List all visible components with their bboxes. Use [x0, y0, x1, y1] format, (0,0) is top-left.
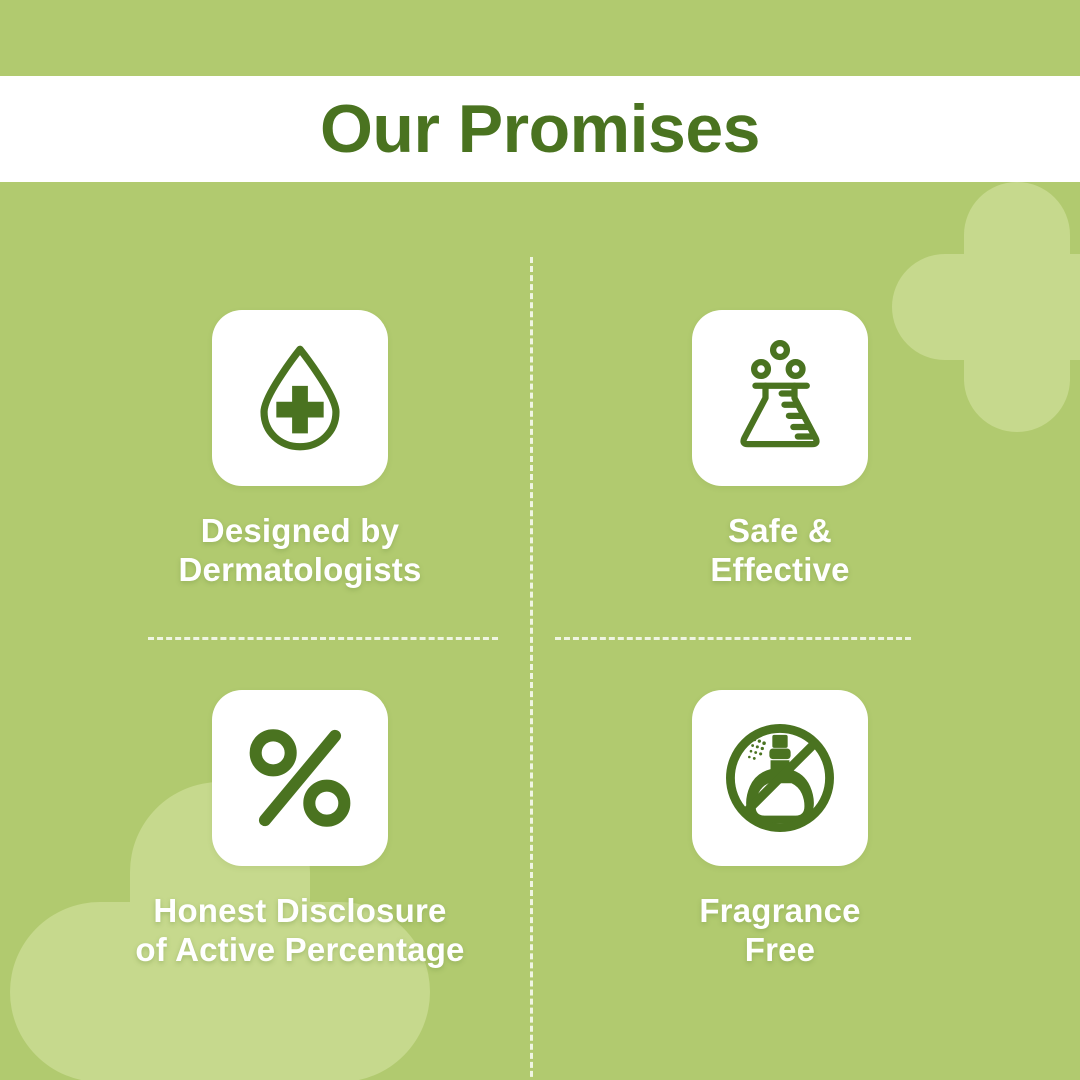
promise-item-designed-by-dermatologists[interactable]: Designed by Dermatologists [65, 310, 535, 589]
divider-horizontal-right [555, 637, 911, 640]
divider-horizontal-left [148, 637, 498, 640]
promise-item-safe-and-effective[interactable]: Safe & Effective [545, 310, 1015, 589]
page-title: Our Promises [320, 95, 760, 163]
promises-grid: Designed by Dermatologists [0, 182, 1080, 1080]
header-band: Our Promises [0, 76, 1080, 182]
promise-label: Safe & Effective [710, 512, 849, 589]
promise-item-fragrance-free[interactable]: Fragrance Free [545, 690, 1015, 969]
droplet-plus-icon [242, 340, 358, 456]
promise-item-honest-disclosure[interactable]: Honest Disclosure of Active Percentage [65, 690, 535, 969]
icon-card [212, 690, 388, 866]
promise-label: Fragrance Free [699, 892, 860, 969]
no-fragrance-icon [721, 719, 839, 837]
promise-label: Honest Disclosure of Active Percentage [135, 892, 464, 969]
promises-poster: Our Promises Designed by Dermatologists [0, 0, 1080, 1080]
flask-bubbles-icon [724, 340, 836, 456]
icon-card [212, 310, 388, 486]
promise-label: Designed by Dermatologists [178, 512, 421, 589]
icon-card [692, 310, 868, 486]
icon-card [692, 690, 868, 866]
percent-icon [245, 726, 355, 830]
